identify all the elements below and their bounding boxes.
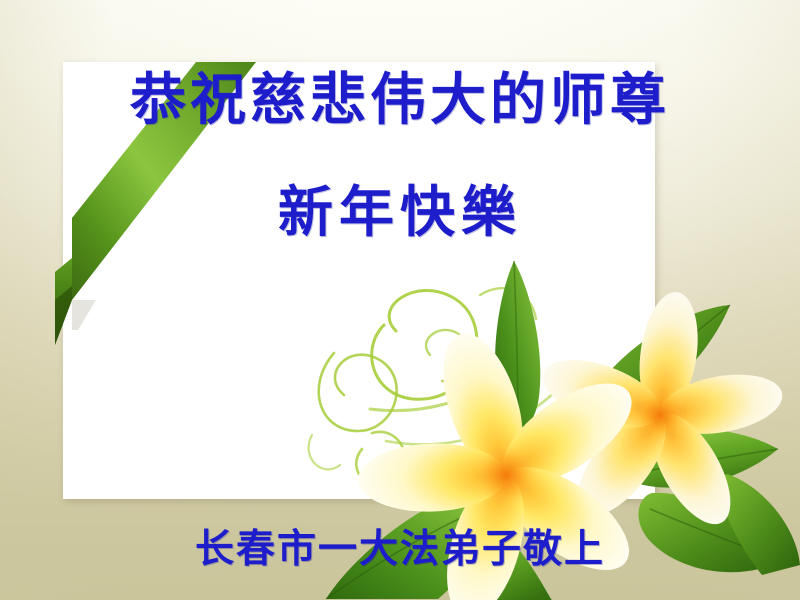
greeting-card-image: 恭祝慈悲伟大的师尊 新年快樂 长春市一大法弟子敬上	[0, 0, 800, 600]
white-card-panel	[63, 62, 655, 499]
